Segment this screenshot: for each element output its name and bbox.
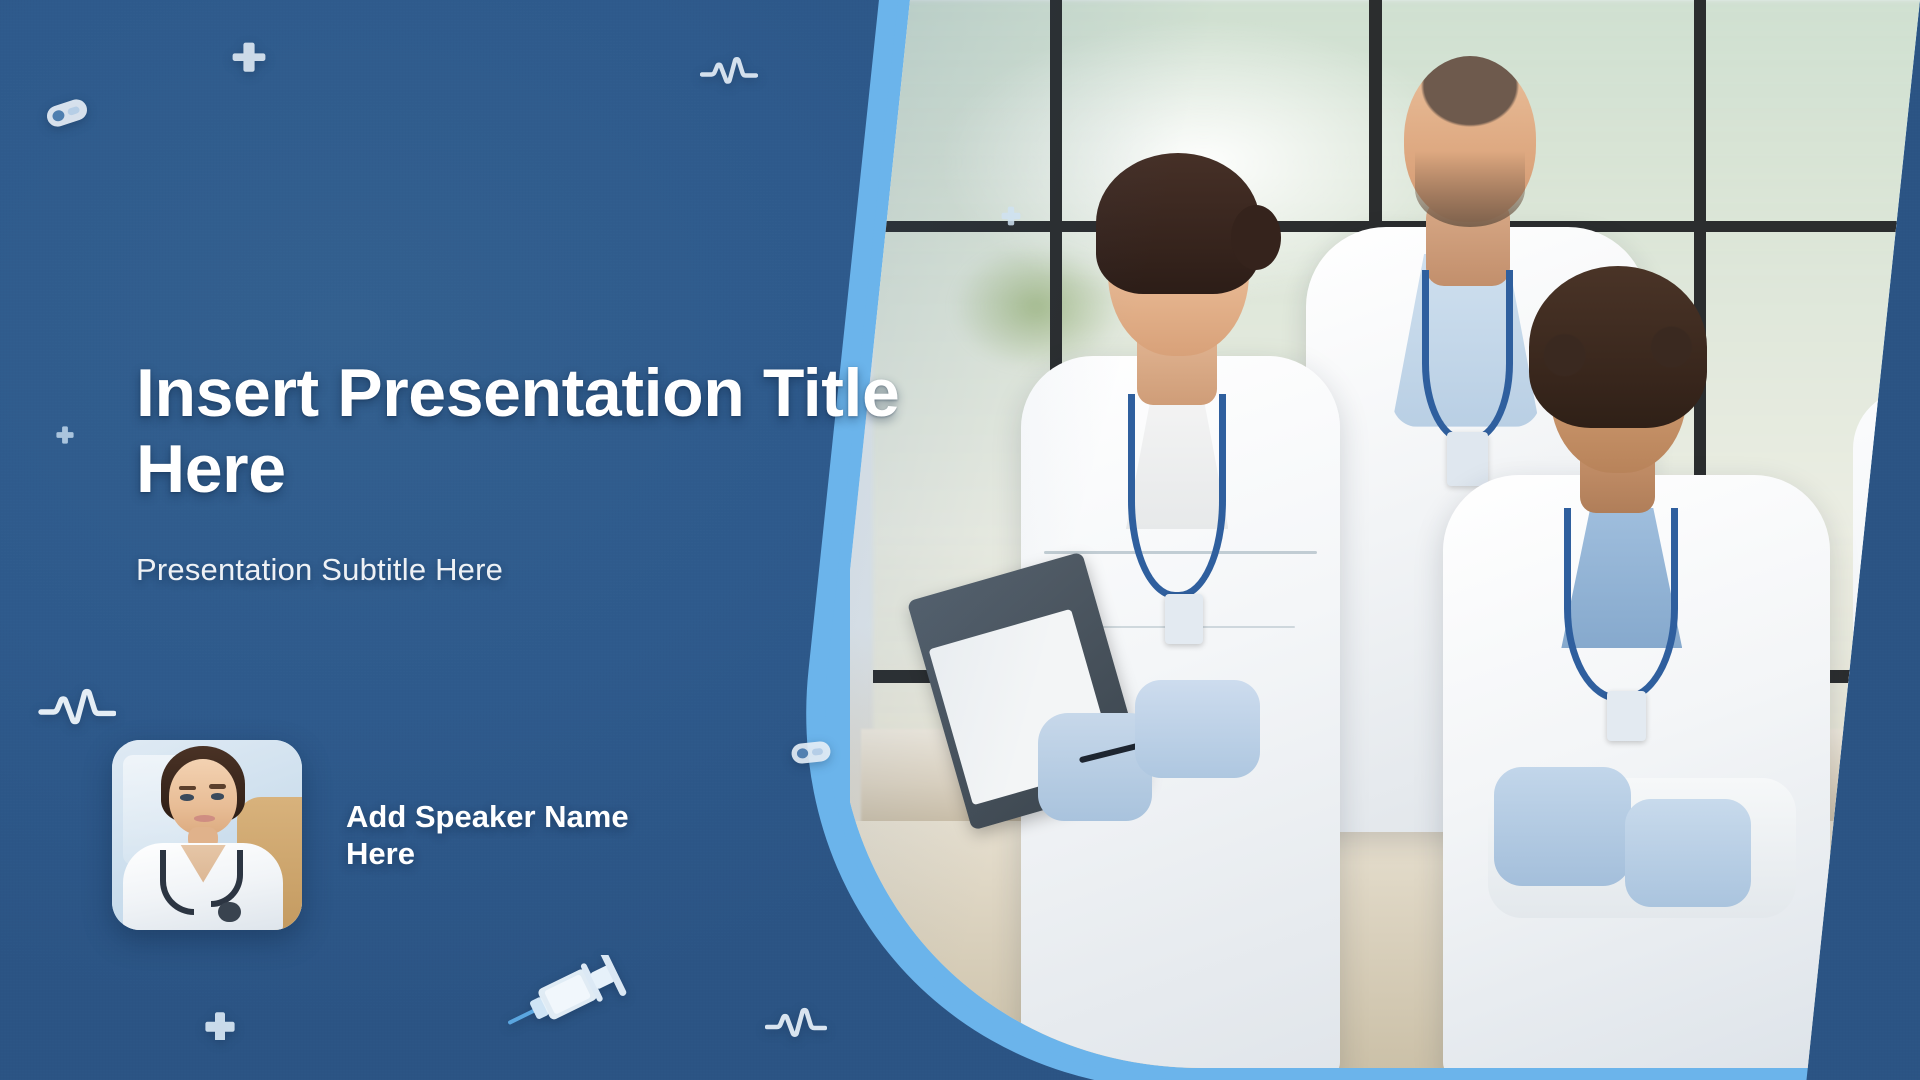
presentation-title-slide: Insert Presentation Title Here Presentat… (0, 0, 1920, 1080)
presentation-subtitle[interactable]: Presentation Subtitle Here (136, 552, 836, 588)
speaker-avatar[interactable] (112, 740, 302, 930)
medical-team-photo (850, 0, 1920, 1068)
hero-photo-panel (860, 0, 1920, 1080)
photo-frame (798, 0, 1920, 1068)
speaker-block: Add Speaker Name Here (112, 740, 676, 930)
speaker-name[interactable]: Add Speaker Name Here (346, 798, 676, 872)
slide-content: Insert Presentation Title Here Presentat… (0, 0, 900, 1080)
photo-clip-shape (784, 0, 1920, 1080)
page-title[interactable]: Insert Presentation Title Here (136, 355, 926, 507)
